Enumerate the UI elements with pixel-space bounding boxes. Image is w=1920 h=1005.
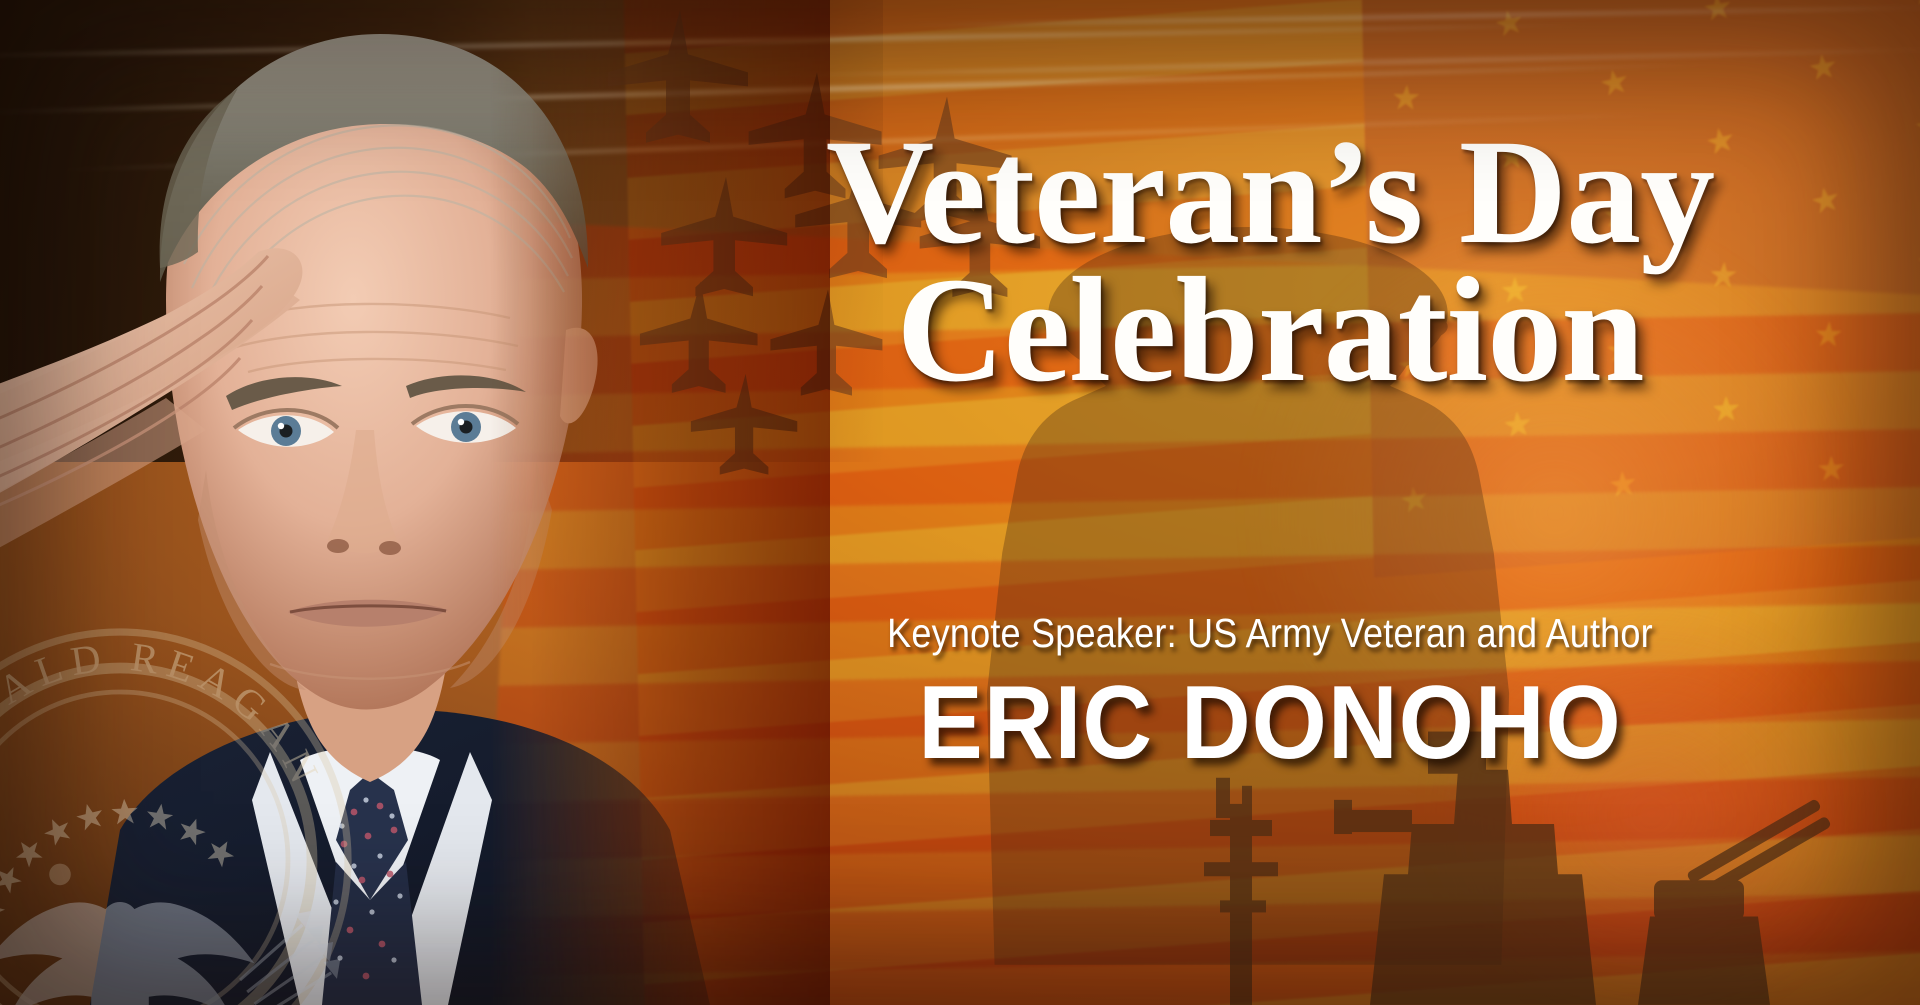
poster-title-line1: Veteran’s Day — [640, 120, 1900, 264]
flag-star: ★ — [1491, 3, 1527, 43]
anti-aircraft-gun-silhouette — [1638, 798, 1832, 1005]
poster-text-block: Veteran’s Day Celebration Keynote Speake… — [640, 120, 1900, 775]
ronald-reagan-seal-watermark: RONALD REAGAN — [0, 620, 360, 1005]
keynote-speaker-subtitle: Keynote Speaker: US Army Veteran and Aut… — [716, 610, 1825, 657]
speaker-name: ERIC DONOHO — [684, 671, 1856, 775]
seal-ring-text: RONALD REAGAN — [0, 634, 331, 797]
veterans-day-celebration-poster: ★★★★★★★★★★★★★★★★★★★★★★★★★★★ — [0, 0, 1920, 1005]
poster-title-line2: Celebration — [640, 258, 1900, 402]
flag-star: ★ — [1700, 0, 1734, 27]
mast-silhouette — [1204, 778, 1278, 1005]
flag-star: ★ — [1910, 0, 1920, 11]
seal-eagle — [0, 902, 254, 1005]
